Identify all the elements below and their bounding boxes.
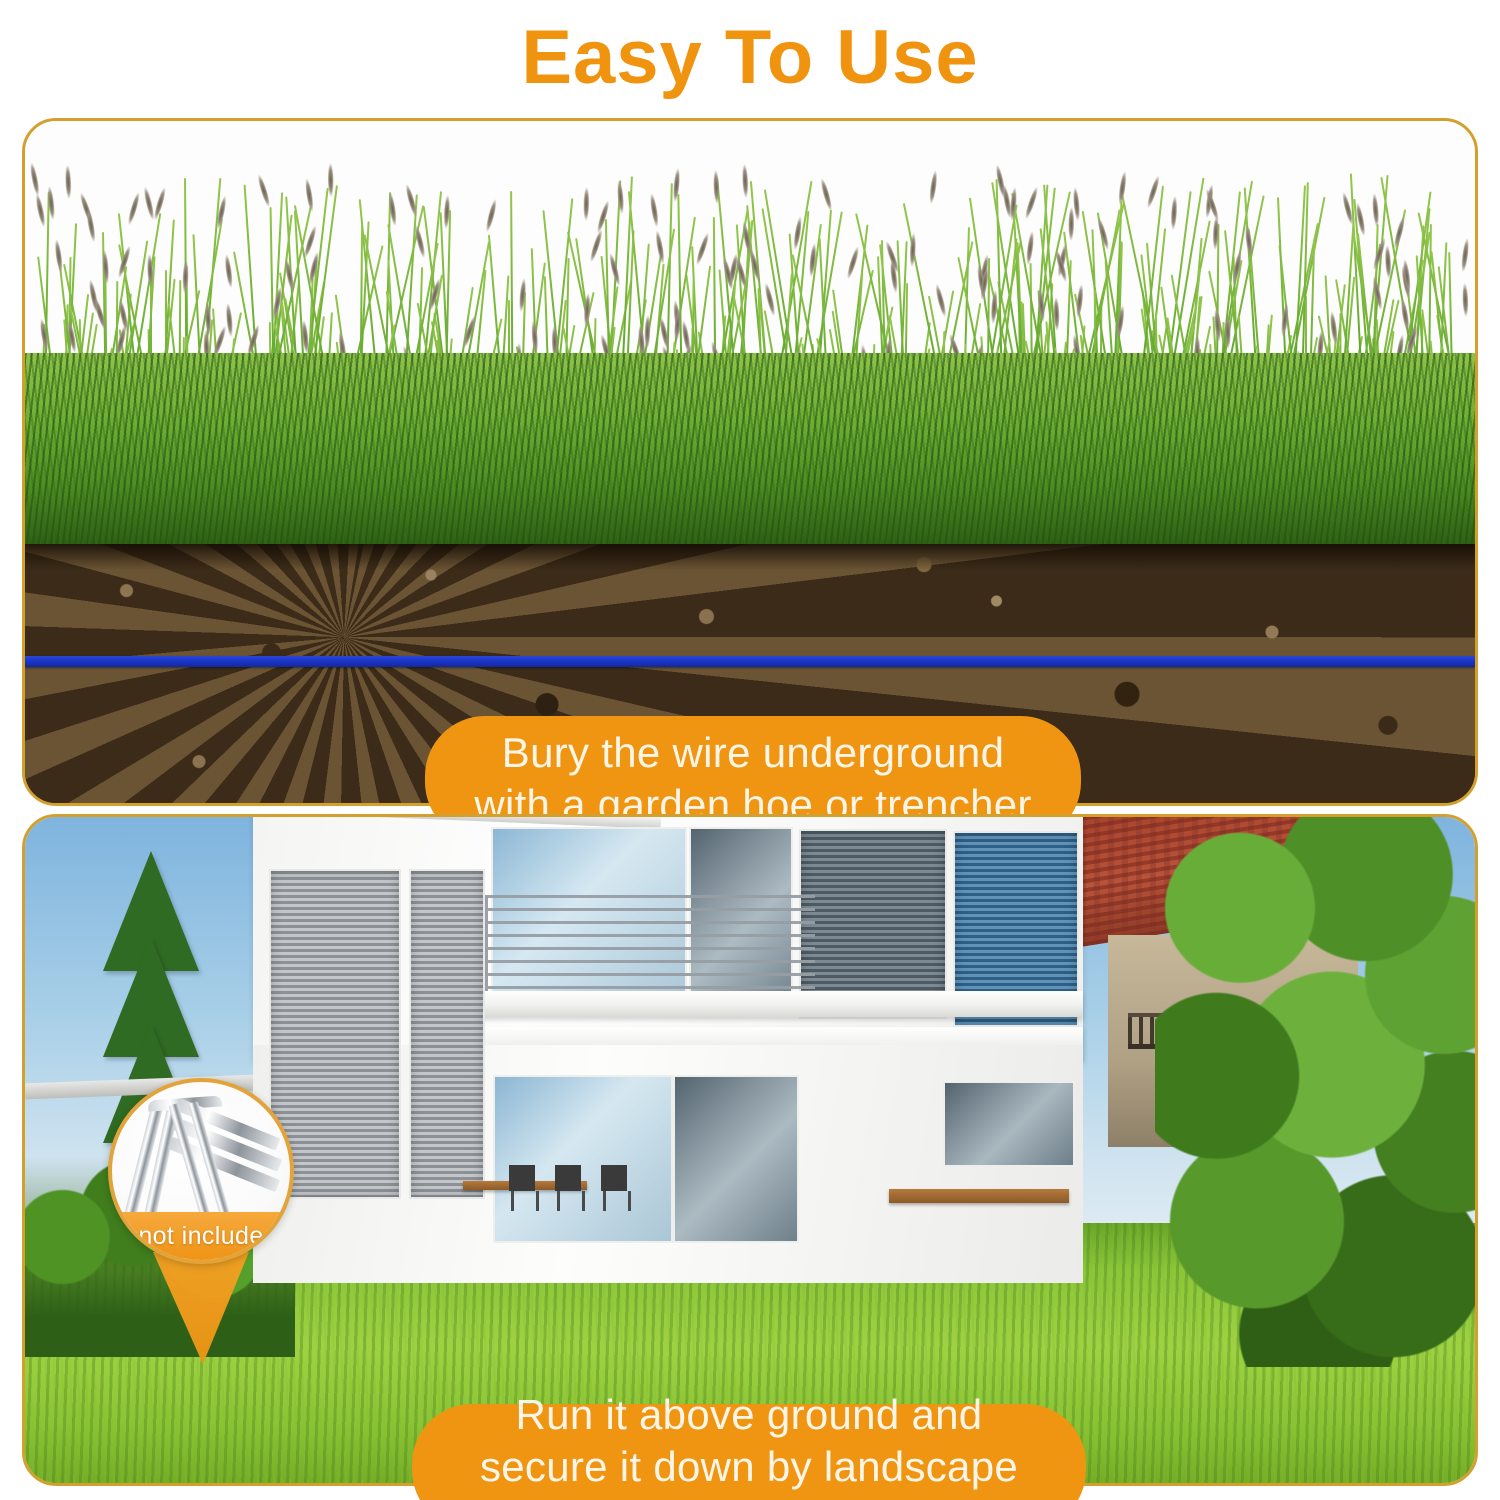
grass-seedhead-icon [256,174,272,208]
grass-seedhead-icon [225,303,234,337]
callout-label: not include [138,1222,263,1251]
grass-seedhead-icon [1243,224,1253,258]
grass-seedhead-icon [694,232,711,266]
terrace-sliding-door [673,1075,799,1243]
grass-seedhead-icon [845,246,861,280]
grass-seedhead-icon [596,200,612,234]
grass-seedhead-icon [182,260,189,294]
modern-house-icon [253,814,1083,1283]
grass-seedhead-icon [1075,284,1085,318]
balcony-slab [467,991,1083,1017]
grass-seedhead-icon [819,177,834,211]
grass-seedhead-icon [1392,215,1407,249]
grass-seedhead-icon [1462,283,1469,317]
grass-seedhead-icon [654,230,666,265]
grass-seedhead-icon [1224,315,1230,349]
grass-seedhead-icon [1068,207,1074,241]
balcony-railing [485,895,815,991]
grass-seedhead-icon [224,254,235,288]
terrace-chair [555,1165,581,1211]
buried-wire-icon [25,656,1475,667]
grass-seedhead-icon [928,170,939,204]
grass-seedhead-icon [1460,238,1470,272]
grass-seedhead-icon [1401,259,1411,293]
grass-seedhead-icon [1117,171,1128,206]
grass-seedhead-icon [583,187,590,221]
grass-seedhead-icon [1025,231,1035,265]
grass-seedhead-icon [484,198,498,232]
left-narrow-blinds [409,869,485,1199]
grass-seedhead-icon [65,165,72,199]
terrace-glass-wall [493,1075,673,1243]
terrace-chair [509,1165,535,1211]
grass-seedhead-icon [85,208,97,243]
grass-seedhead-icon [1371,193,1380,227]
grass-seedhead-icon [53,239,64,273]
grass-seedhead-icon [126,192,141,226]
grass-seedhead-icon [1023,186,1040,220]
page-title: Easy To Use [0,8,1500,108]
buried-wire-panel [22,118,1478,806]
grass-seedhead-icon [649,193,660,228]
grass-seedhead-icon [327,163,334,197]
garden-bench [889,1189,1069,1203]
grass-seedhead-icon [28,162,40,197]
grass-seedhead-icon [1170,196,1178,230]
grass-seedhead-icon [933,283,947,317]
grass-seedhead-icon [34,193,47,228]
infographic-page: Easy To Use Bury the wire underground wi… [0,0,1500,1500]
terrace-chair [601,1165,627,1211]
grass-layer [25,353,1475,544]
leafy-tree-icon [1155,814,1478,1367]
grass-seedhead-icon [713,170,720,204]
grass-seedhead-icon [1053,297,1060,331]
lower-right-window [943,1081,1075,1167]
grass-seedhead-icon [741,164,749,198]
staples-callout: not include [108,1078,294,1264]
grass-seedhead-icon [672,168,681,202]
grass-seedhead-icon [304,178,315,213]
caption-above-ground: Run it above ground and secure it down b… [412,1404,1086,1500]
callout-band: not include [112,1212,290,1260]
soil-shadow [25,544,1475,570]
